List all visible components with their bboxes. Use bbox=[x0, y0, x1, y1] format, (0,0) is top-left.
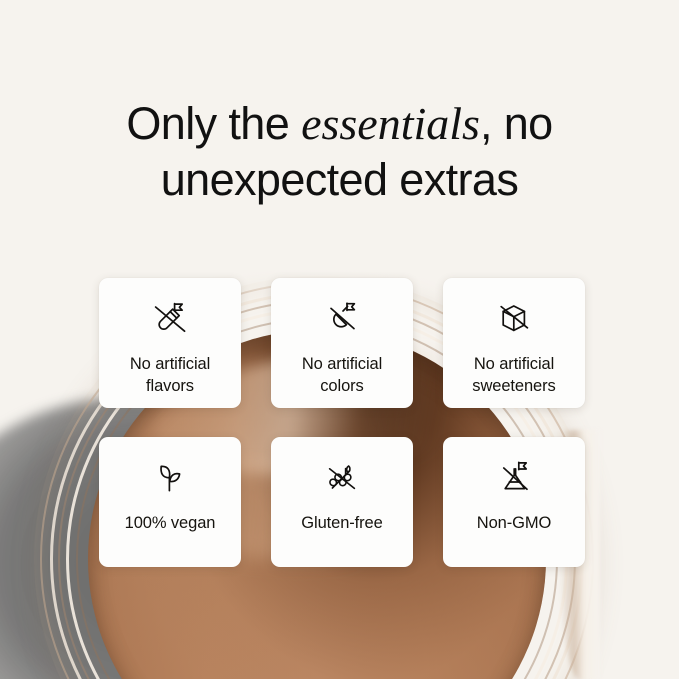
headline-line-2: unexpected extras bbox=[0, 152, 679, 208]
badge-card-no-artificial-flavors[interactable]: No artificial flavors bbox=[99, 278, 241, 408]
badge-card-no-artificial-colors[interactable]: No artificial colors bbox=[271, 278, 413, 408]
badge-card-gluten-free[interactable]: Gluten-free bbox=[271, 437, 413, 567]
no-wheat-icon bbox=[320, 456, 364, 500]
badge-label: No artificial sweeteners bbox=[448, 353, 580, 397]
badge-label: No artificial colors bbox=[276, 353, 408, 397]
headline-text-after: , no bbox=[480, 98, 553, 149]
badge-label: 100% vegan bbox=[104, 512, 236, 534]
sprout-icon bbox=[148, 456, 192, 500]
badge-card-100-percent-vegan[interactable]: 100% vegan bbox=[99, 437, 241, 567]
no-test-tube-icon bbox=[148, 297, 192, 341]
badge-label: Non-GMO bbox=[448, 512, 580, 534]
headline-line-1: Only the essentials, no bbox=[0, 96, 679, 152]
promo-banner: Only the essentials, no unexpected extra… bbox=[0, 0, 679, 679]
badge-card-non-gmo[interactable]: Non-GMO bbox=[443, 437, 585, 567]
page-title: Only the essentials, no unexpected extra… bbox=[0, 96, 679, 208]
no-sugar-cube-icon bbox=[492, 297, 536, 341]
headline-text-before: Only the bbox=[126, 98, 301, 149]
headline-emphasis: essentials bbox=[301, 98, 480, 149]
badge-card-no-artificial-sweeteners[interactable]: No artificial sweeteners bbox=[443, 278, 585, 408]
no-dropper-flask-icon bbox=[320, 297, 364, 341]
claims-badge-grid: No artificial flavors No artificial bbox=[99, 278, 587, 567]
no-erlenmeyer-flask-icon bbox=[492, 456, 536, 500]
badge-label: Gluten-free bbox=[276, 512, 408, 534]
badge-label: No artificial flavors bbox=[104, 353, 236, 397]
